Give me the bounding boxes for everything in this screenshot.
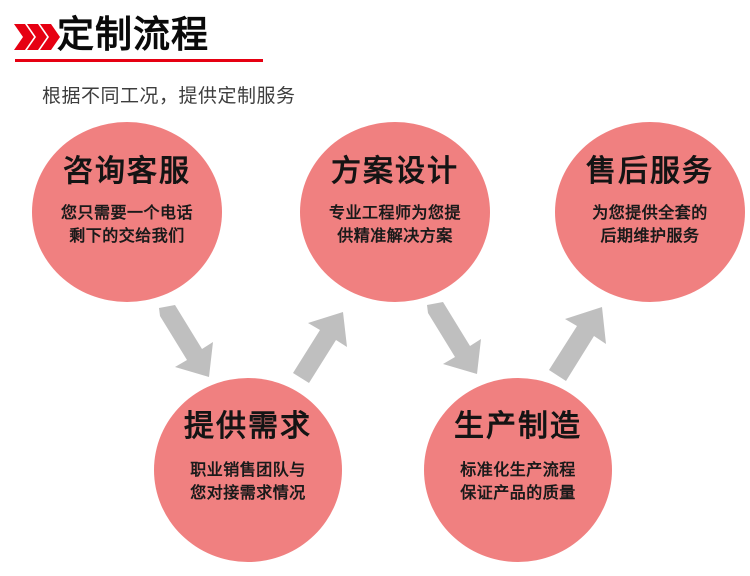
flow-node-desc-line-1: 您只需要一个电话 [61,202,193,225]
flow-node-desc-line-1: 标准化生产流程 [460,459,576,482]
flow-node-desc-line-1: 为您提供全套的 [592,202,708,225]
page-subtitle: 根据不同工况，提供定制服务 [42,84,296,110]
arrow-design-to-manufacture [418,300,486,375]
flow-node-desc-line-1: 专业工程师为您提 [329,202,461,225]
flow-node-desc-line-2: 保证产品的质量 [460,482,576,505]
arrow-consult-to-requirement [150,303,218,378]
flow-node-desc-line-2: 后期维护服务 [600,225,699,248]
flow-node-consult[interactable]: 咨询客服 您只需要一个电话 剩下的交给我们 [32,122,222,302]
flow-node-title: 生产制造 [454,410,582,444]
arrow-manufacture-to-aftersales [543,305,611,383]
flow-node-desc-line-2: 剩下的交给我们 [69,225,185,248]
flow-node-aftersales[interactable]: 售后服务 为您提供全套的 后期维护服务 [555,122,745,302]
flow-node-manufacture[interactable]: 生产制造 标准化生产流程 保证产品的质量 [424,378,612,562]
flow-node-desc-line-2: 您对接需求情况 [190,482,306,505]
triple-chevron-right-icon [14,22,60,52]
flow-node-desc-line-2: 供精准解决方案 [337,225,453,248]
flow-node-title: 提供需求 [184,410,312,444]
flow-node-design[interactable]: 方案设计 专业工程师为您提 供精准解决方案 [300,122,490,302]
page-header: 定制流程 根据不同工况，提供定制服务 [0,0,750,115]
title-underline [15,59,263,62]
page-title: 定制流程 [57,13,209,57]
flow-node-title: 方案设计 [331,155,459,189]
flow-node-title: 售后服务 [586,155,714,189]
flow-node-title: 咨询客服 [63,155,191,189]
flow-node-requirement[interactable]: 提供需求 职业销售团队与 您对接需求情况 [154,378,342,562]
flow-node-desc-line-1: 职业销售团队与 [190,459,306,482]
arrow-requirement-to-design [286,310,354,385]
flow-diagram-page: 定制流程 根据不同工况，提供定制服务 咨询客服 您只需要一个电话 剩下的交给我们… [0,0,750,576]
